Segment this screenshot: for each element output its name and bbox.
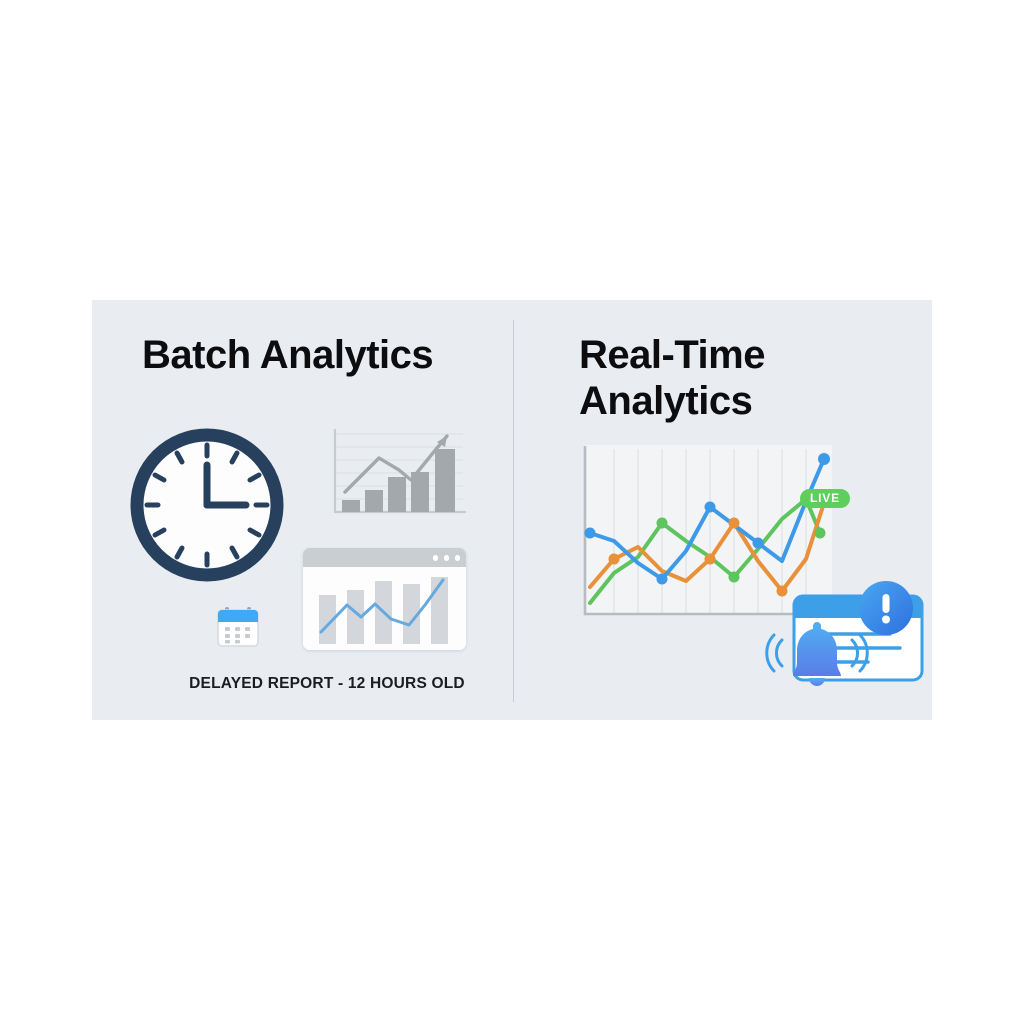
screenshot-stage: Batch Analytics	[0, 0, 1024, 1024]
live-status-badge: LIVE	[800, 489, 850, 508]
browser-dot-1	[433, 555, 439, 561]
clock-icon	[129, 427, 285, 583]
panel-divider	[513, 320, 514, 702]
realtime-analytics-title: Real-Time Analytics	[579, 332, 879, 425]
alert-notification-icon	[752, 578, 932, 696]
browser-dot-2	[444, 555, 450, 561]
browser-window-icon	[303, 548, 466, 650]
comparison-panel: Batch Analytics	[92, 300, 932, 720]
batch-bar-chart	[319, 424, 467, 520]
batch-analytics-title: Batch Analytics	[142, 332, 433, 378]
browser-content	[303, 567, 466, 650]
calendar-icon	[214, 603, 262, 651]
browser-dot-3	[455, 555, 461, 561]
batch-delay-caption: DELAYED REPORT - 12 HOURS OLD	[142, 675, 512, 693]
browser-titlebar	[303, 548, 466, 567]
